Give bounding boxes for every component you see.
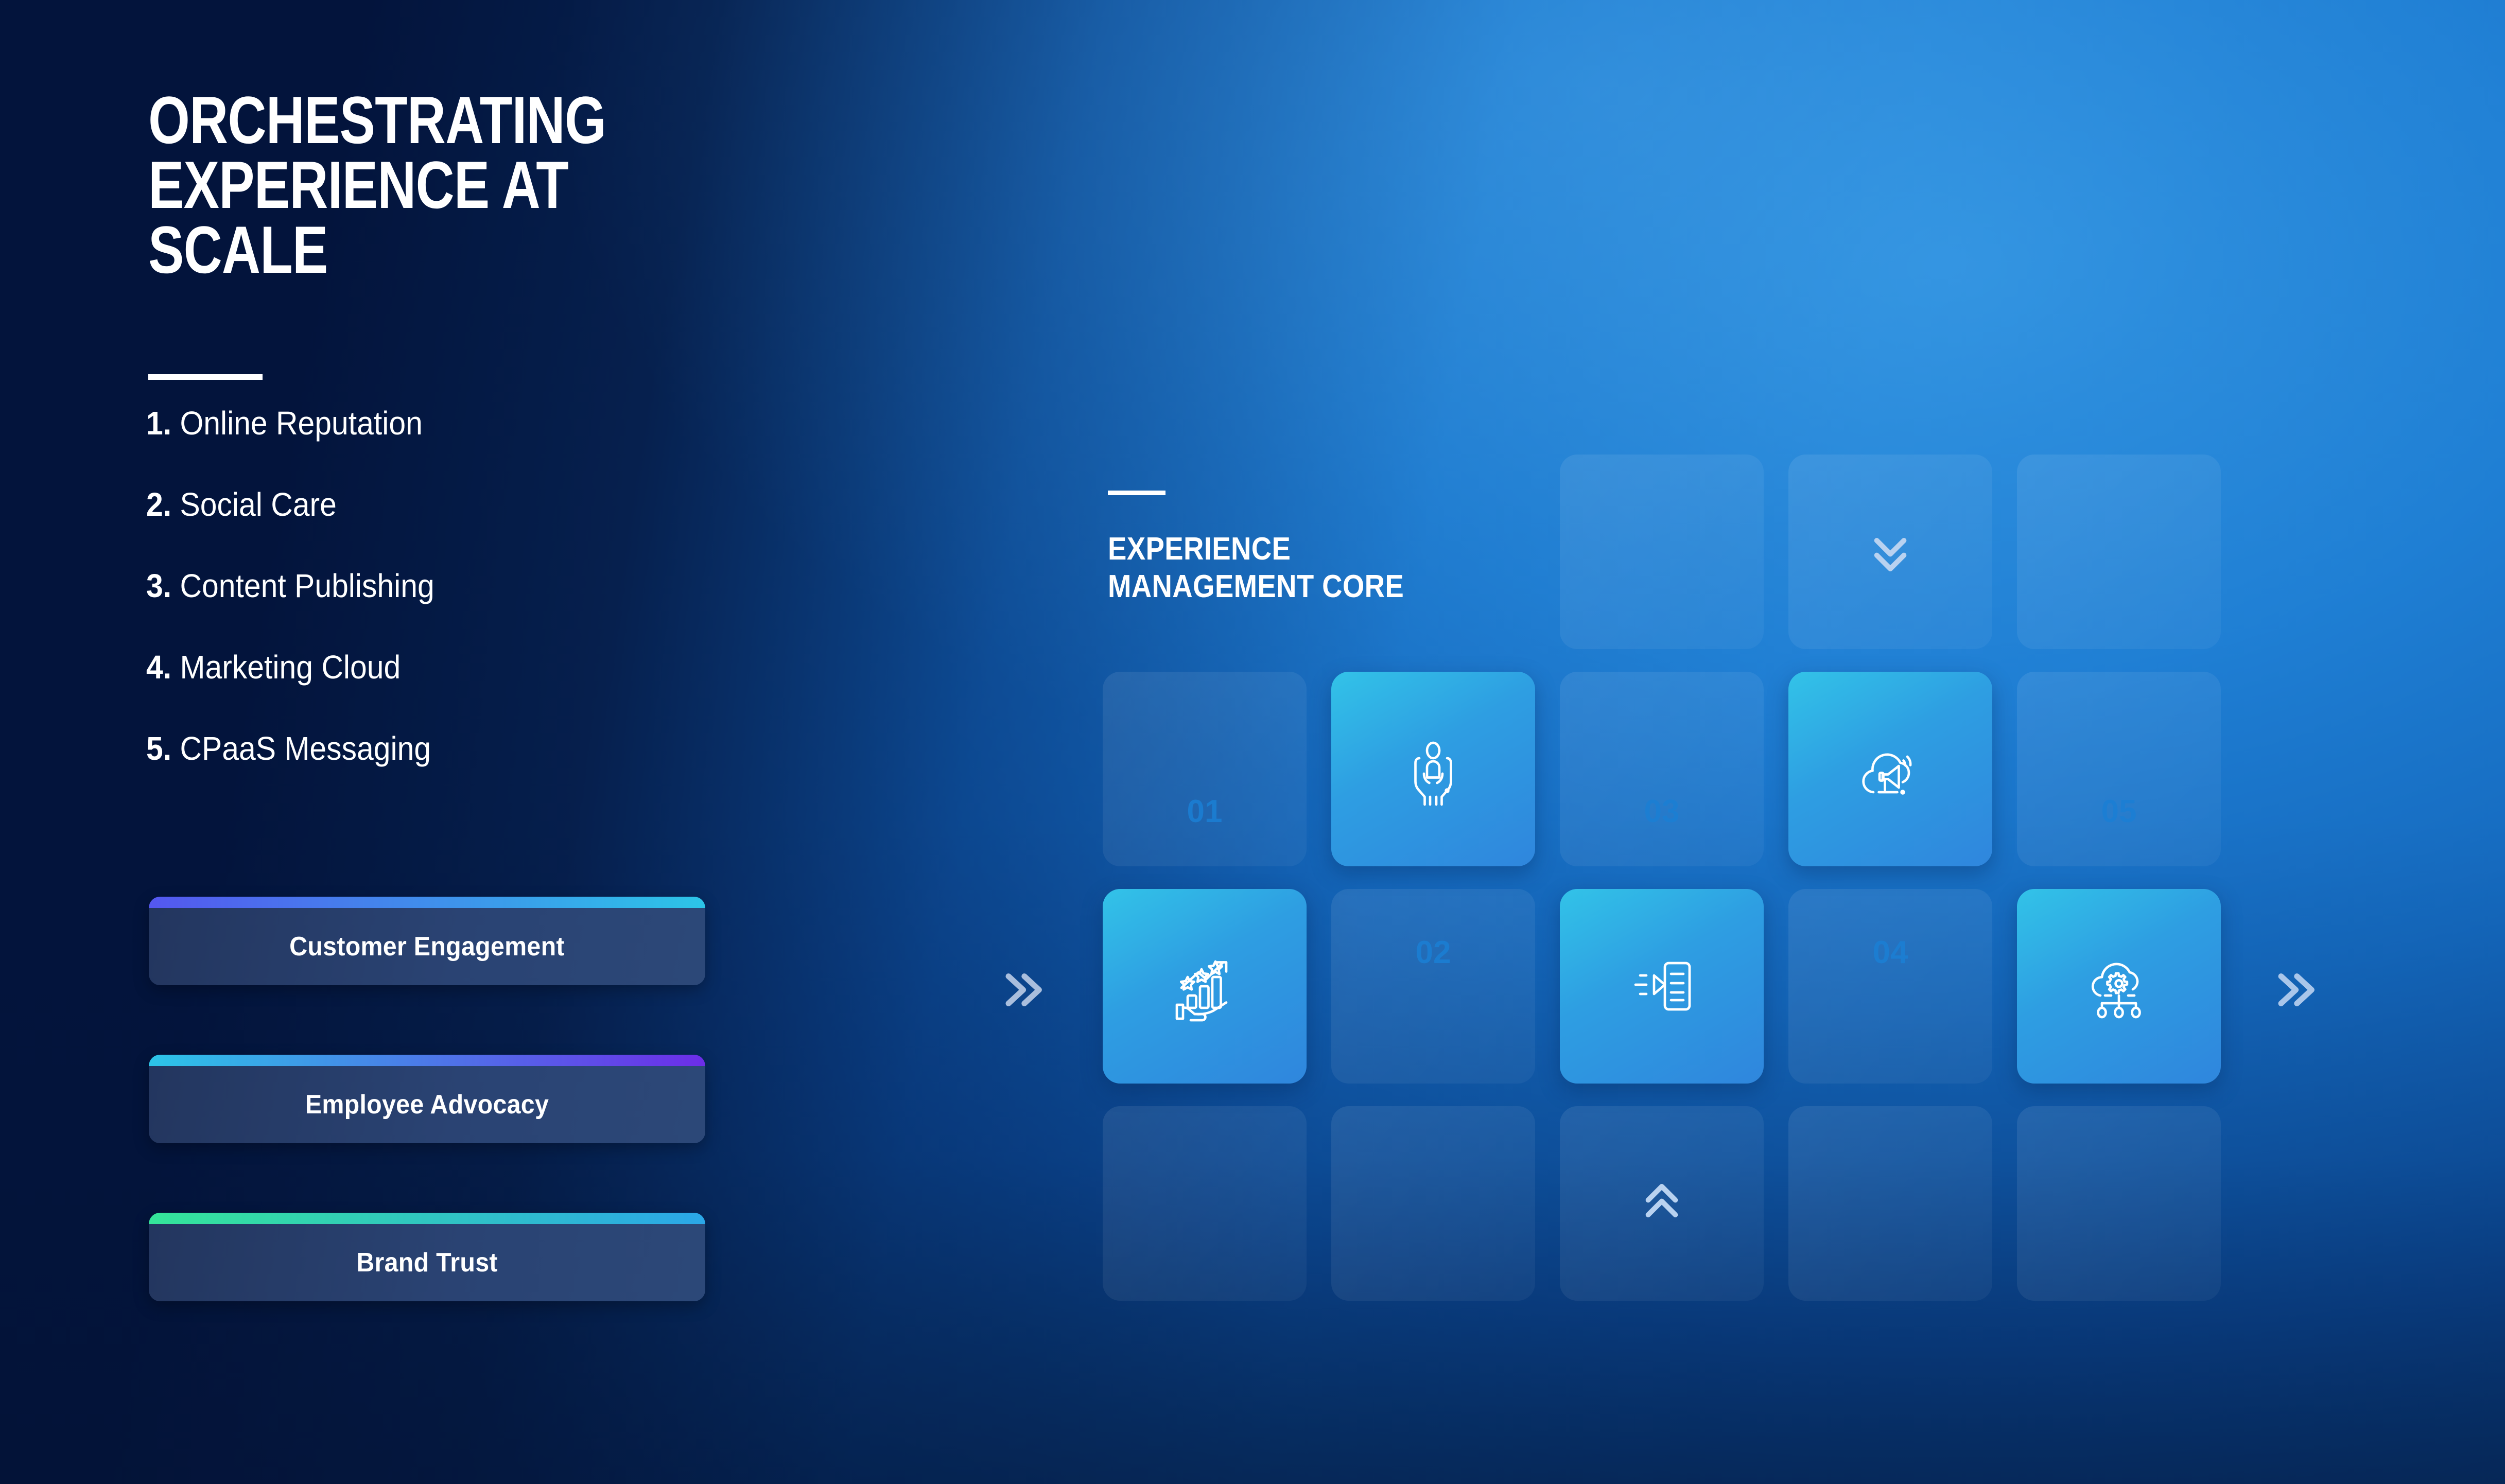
pill-label: Employee Advocacy	[305, 1089, 549, 1120]
grid-tile-number-03[interactable]: 03	[1560, 672, 1764, 866]
tile-number-label: 05	[2017, 793, 2221, 830]
pill-label: Brand Trust	[356, 1247, 497, 1278]
pill-body: Brand Trust	[149, 1224, 705, 1301]
grid-tile-empty	[2017, 1106, 2221, 1301]
page-title: ORCHESTRATING EXPERIENCE AT SCALE	[148, 88, 667, 282]
grid-tile-empty	[1103, 1106, 1307, 1301]
person-in-hands-icon	[1395, 730, 1472, 808]
feature-label: Social Care	[171, 486, 337, 523]
grid-tile-empty	[2017, 455, 2221, 649]
pill-body: Employee Advocacy	[149, 1066, 705, 1143]
chevron-double-down-icon[interactable]	[1862, 523, 1919, 580]
tile-number-label: 04	[1788, 934, 1992, 971]
feature-label: CPaaS Messaging	[171, 730, 431, 767]
grid-tile-person-in-hands[interactable]	[1331, 672, 1535, 866]
grid-tile-content-publish[interactable]	[1560, 889, 1764, 1084]
left-column: ORCHESTRATING EXPERIENCE AT SCALE	[148, 88, 797, 282]
feature-item: 4. Marketing Cloud	[146, 651, 815, 684]
feature-label: Online Reputation	[171, 405, 423, 442]
feature-item: 1. Online Reputation	[146, 407, 815, 440]
pill-card-stack: Customer EngagementEmployee AdvocacyBran…	[149, 897, 705, 1371]
feature-label: Marketing Cloud	[171, 649, 401, 686]
feature-item: 3. Content Publishing	[146, 569, 815, 602]
feature-number: 3.	[146, 567, 171, 604]
feature-item: 2. Social Care	[146, 488, 815, 521]
pill-card[interactable]: Brand Trust	[149, 1213, 705, 1301]
pill-card[interactable]: Employee Advocacy	[149, 1055, 705, 1143]
grid-tile-number-04[interactable]: 04	[1788, 889, 1992, 1084]
grid-tile-cloud-gear-network[interactable]	[2017, 889, 2221, 1084]
content-publish-icon	[1623, 948, 1700, 1025]
grid-tile-empty	[1560, 455, 1764, 649]
feature-number: 4.	[146, 649, 171, 686]
experience-tile-grid: 0103050204	[1103, 455, 2269, 1330]
tile-number-label: 01	[1103, 793, 1307, 830]
cloud-gear-network-icon	[2080, 948, 2158, 1025]
grid-tile-number-01[interactable]: 01	[1103, 672, 1307, 866]
feature-label: Content Publishing	[171, 567, 434, 604]
chevron-double-up-icon[interactable]	[1633, 1175, 1690, 1232]
grid-tile-number-02[interactable]: 02	[1331, 889, 1535, 1084]
grid-tile-cloud-megaphone[interactable]	[1788, 672, 1992, 866]
grid-tile-chevron-double-down[interactable]	[1788, 455, 1992, 649]
grid-tile-number-05[interactable]: 05	[2017, 672, 2221, 866]
tile-number-label: 02	[1331, 934, 1535, 971]
grid-tile-rating-growth-hand[interactable]	[1103, 889, 1307, 1084]
pill-card[interactable]: Customer Engagement	[149, 897, 705, 985]
grid-tile-empty	[1331, 1106, 1535, 1301]
feature-item: 5. CPaaS Messaging	[146, 732, 815, 765]
pill-body: Customer Engagement	[149, 908, 705, 985]
pill-label: Customer Engagement	[289, 931, 565, 962]
feature-list: 1. Online Reputation2. Social Care3. Con…	[146, 407, 815, 813]
tile-number-label: 03	[1560, 793, 1764, 830]
chevron-double-right-icon-right[interactable]	[2264, 962, 2321, 1018]
grid-tile-chevron-double-up[interactable]	[1560, 1106, 1764, 1301]
section-rule-left	[148, 374, 263, 380]
feature-number: 2.	[146, 486, 171, 523]
chevron-double-right-icon-left[interactable]	[991, 962, 1048, 1018]
feature-number: 1.	[146, 405, 171, 442]
cloud-megaphone-icon	[1852, 730, 1929, 808]
rating-growth-hand-icon	[1166, 948, 1243, 1025]
grid-tile-empty	[1788, 1106, 1992, 1301]
feature-number: 5.	[146, 730, 171, 767]
